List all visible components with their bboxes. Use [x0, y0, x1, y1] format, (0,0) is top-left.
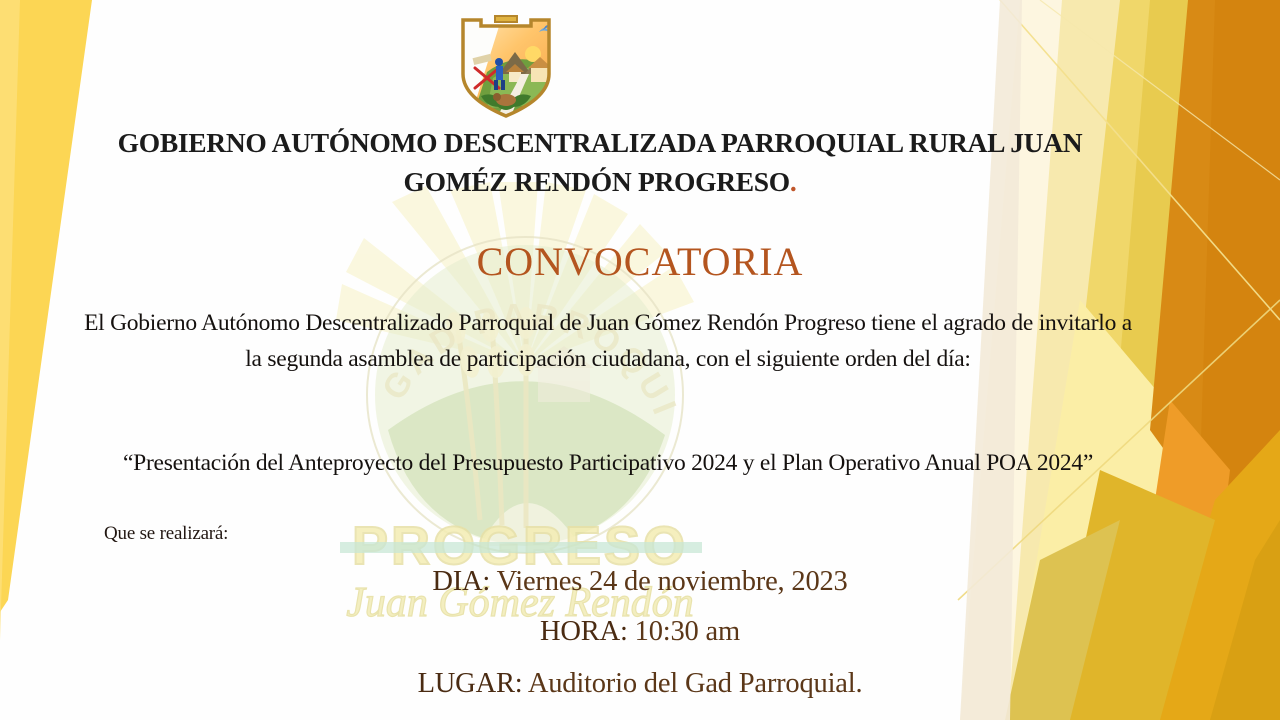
detail-hora: HORA: 10:30 am: [300, 616, 980, 648]
detail-lugar-label: LUGAR:: [418, 668, 523, 699]
title-line-1: GOBIERNO AUTÓNOMO DESCENTRALIZADA PARROQ…: [118, 127, 1083, 158]
slide-canvas: GAD PARROQUIAL RURA PROGRESO Juan Gómez …: [0, 0, 1280, 720]
title-period: .: [790, 166, 797, 197]
page-title: GOBIERNO AUTÓNOMO DESCENTRALIZADA PARROQ…: [60, 124, 1140, 201]
detail-hora-value: 10:30 am: [635, 616, 740, 647]
title-line-2: GOMÉZ RENDÓN PROGRESO: [404, 166, 790, 197]
detail-dia: DIA: Viernes 24 de noviembre, 2023: [300, 566, 980, 598]
invitation-paragraph: El Gobierno Autónomo Descentralizado Par…: [78, 306, 1138, 377]
detail-lugar: LUGAR: Auditorio del Gad Parroquial.: [260, 668, 1020, 700]
coat-of-arms-icon: [447, 12, 565, 120]
detail-dia-value: Viernes 24 de noviembre, 2023: [497, 566, 848, 597]
detail-hora-label: HORA:: [540, 616, 628, 647]
realizara-label: Que se realizará:: [104, 523, 364, 545]
detail-lugar-value: Auditorio del Gad Parroquial.: [528, 668, 863, 699]
detail-dia-label: DIA:: [432, 566, 490, 597]
convocatoria-heading: CONVOCATORIA: [330, 238, 950, 285]
agenda-quote: “Presentación del Anteproyecto del Presu…: [78, 446, 1138, 481]
